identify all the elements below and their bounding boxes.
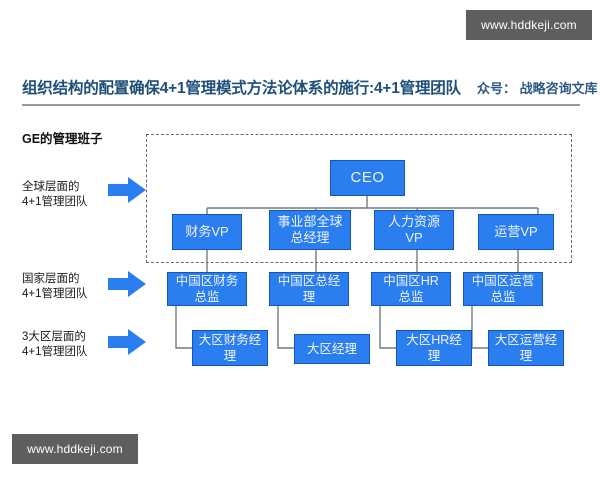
level-label-region: 3大区层面的 4+1管理团队	[22, 330, 88, 360]
org-node-bu-global-gm[interactable]: 事业部全球 总经理	[269, 210, 351, 250]
arrow-right-icon-country	[108, 268, 148, 300]
org-node-hr-vp[interactable]: 人力资源 VP	[374, 210, 454, 250]
org-node-region-ops-mgr[interactable]: 大区运营经 理	[488, 330, 564, 366]
org-node-region-finance-mgr[interactable]: 大区财务经 理	[192, 330, 268, 366]
slide-canvas: www.hddkeji.com www.hddkeji.com 组织结构的配置确…	[0, 0, 600, 480]
org-node-china-finance-director[interactable]: 中国区财务 总监	[167, 272, 247, 306]
arrow-right-icon-global	[108, 174, 148, 206]
watermark-top-right: www.hddkeji.com	[466, 10, 592, 40]
page-title: 组织结构的配置确保4+1管理模式方法论体系的施行:4+1管理团队 众号： 战略咨…	[22, 76, 582, 100]
org-node-china-gm[interactable]: 中国区总经 理	[269, 272, 349, 306]
ge-management-heading: GE的管理班子	[22, 128, 103, 147]
org-node-region-hr-mgr[interactable]: 大区HR经 理	[396, 330, 472, 366]
level-label-country: 国家层面的 4+1管理团队	[22, 272, 88, 302]
org-node-china-ops-director[interactable]: 中国区运营 总监	[463, 272, 543, 306]
org-node-china-hr-director[interactable]: 中国区HR 总监	[371, 272, 451, 306]
arrow-right-icon-region	[108, 326, 148, 358]
org-node-ceo[interactable]: CEO	[330, 160, 405, 196]
level-label-global: 全球层面的 4+1管理团队	[22, 180, 88, 210]
title-overlay-text: 众号： 战略咨询文库	[477, 78, 598, 97]
watermark-bottom-left: www.hddkeji.com	[12, 434, 138, 464]
page-title-text: 组织结构的配置确保4+1管理模式方法论体系的施行:4+1管理团队	[22, 76, 461, 98]
title-divider	[22, 104, 580, 106]
org-node-region-mgr[interactable]: 大区经理	[294, 334, 370, 364]
org-node-ops-vp[interactable]: 运营VP	[478, 214, 554, 250]
org-node-finance-vp[interactable]: 财务VP	[172, 214, 242, 250]
